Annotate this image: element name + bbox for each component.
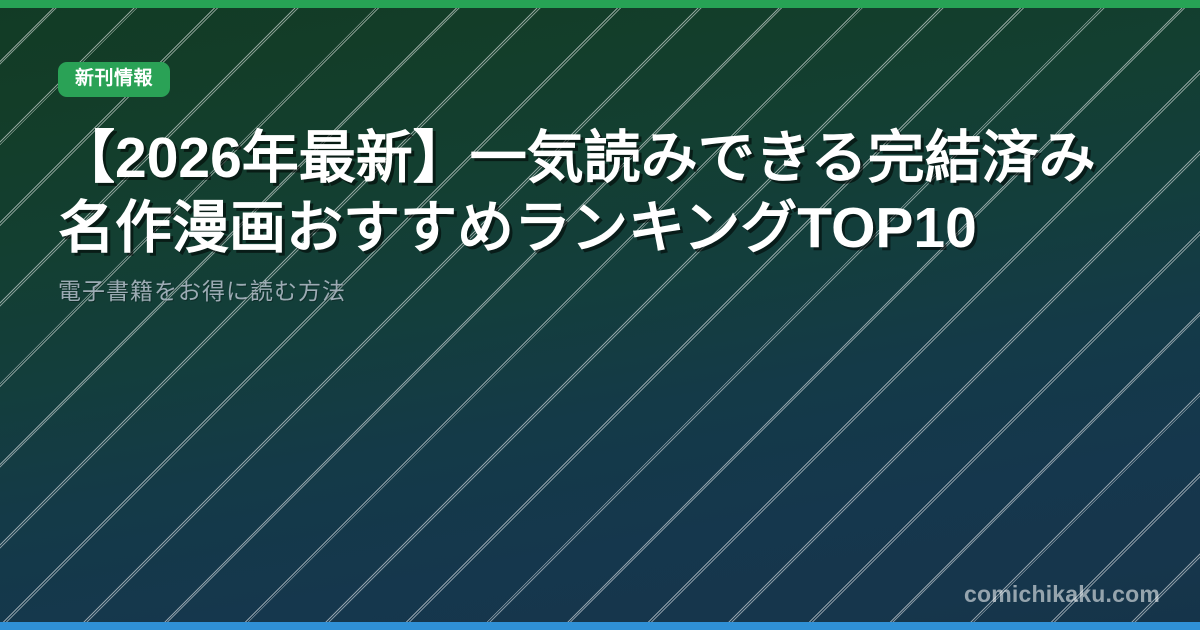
- card-content: 新刊情報 【2026年最新】一気読みできる完結済み名作漫画おすすめランキングTO…: [58, 0, 1148, 307]
- page-title: 【2026年最新】一気読みできる完結済み名作漫画おすすめランキングTOP10: [58, 123, 1143, 263]
- og-image-card: 新刊情報 【2026年最新】一気読みできる完結済み名作漫画おすすめランキングTO…: [0, 0, 1200, 630]
- bottom-accent-bar: [0, 622, 1200, 630]
- page-subtitle: 電子書籍をお得に読む方法: [58, 277, 1148, 307]
- page-title-line-1: 【2026年最新】一気読みできる完結済み: [58, 126, 1096, 190]
- site-watermark: comichikaku.com: [964, 581, 1160, 608]
- top-accent-bar: [0, 0, 1200, 8]
- category-badge: 新刊情報: [58, 62, 170, 97]
- page-title-line-2: 名作漫画おすすめランキングTOP10: [58, 196, 977, 260]
